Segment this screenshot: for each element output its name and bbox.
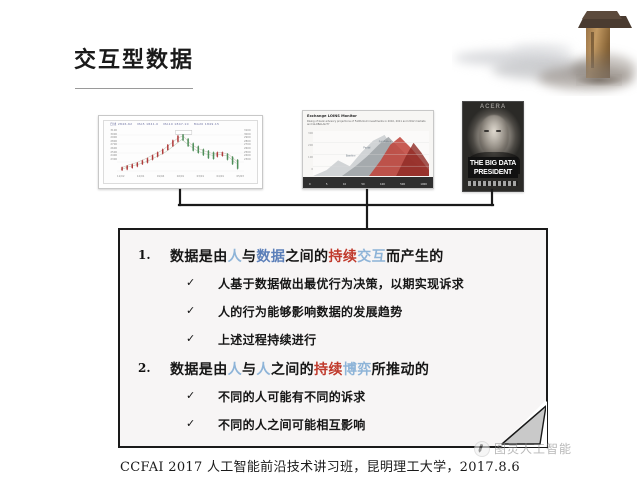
run-plain: 之间的: [271, 362, 314, 378]
watermark-text: 图灵人工智能: [494, 440, 572, 457]
content-box: 1. 数据是由人与数据之间的持续交互而产生的 ✓ 人基于数据做出最优行为决策，以…: [118, 228, 548, 448]
area-chart-y-tick: 300: [304, 132, 313, 135]
sub-item-text: 上述过程持续进行: [218, 331, 316, 348]
check-icon: ✓: [186, 389, 195, 402]
portrait-eye-right: [496, 130, 501, 132]
svg-text:Baseline: Baseline: [346, 154, 356, 157]
area-chart-footer-bar: 0 5 10 50 100 500 1000: [303, 177, 433, 188]
cover-headline: THE BIG DATA PRESIDENT: [468, 157, 518, 178]
stock-chart-header: 日线 2846.62 MA5 1841.0 MA10 1847.10 MA20 …: [110, 122, 251, 128]
item-number-1: 1.: [138, 248, 151, 262]
obama-portrait: [479, 115, 509, 155]
item-text-2: 数据是由人与人之间的持续博弈所推动的: [170, 359, 429, 379]
run-plain: 与: [242, 249, 256, 265]
area-chart-title: Exchange LOINS Monitor: [307, 114, 429, 118]
area-chart-y-tick: 100: [304, 156, 313, 159]
check-icon: ✓: [186, 417, 195, 430]
item-text-1: 数据是由人与数据之间的持续交互而产生的: [170, 246, 444, 266]
slide-canvas: 交互型数据 日线 2846.62 MA5 1841.0 MA10 1847.10…: [0, 0, 640, 480]
stock-chart-x-axis: 11/02 12/01 01/04 02/01 03/01 04/01 05/0…: [117, 175, 244, 182]
cover-headline-line2: PRESIDENT: [474, 168, 512, 177]
sub-item-text: 不同的人可能有不同的诉求: [218, 388, 366, 405]
sub-item-text: 人的行为能够影响数据的发展趋势: [218, 303, 403, 320]
area-chart-plot: Baseline Partial Full Pullout: [313, 131, 429, 176]
run-highlight: 持续: [328, 249, 357, 265]
check-icon: ✓: [186, 332, 195, 345]
cover-headline-line1: THE BIG DATA: [470, 159, 516, 168]
run-highlight: 交互: [357, 249, 386, 265]
ink-tower-painting-icon: [452, 4, 637, 96]
area-chart-y-tick: 200: [304, 144, 313, 147]
area-chart-subtitle: Rising of bank advisory projections of F…: [307, 120, 429, 127]
area-chart-x-axis: 0 5 10 50 100 500 1000: [309, 183, 427, 186]
svg-text:Full Pullout: Full Pullout: [379, 141, 392, 144]
run-plain: 而产生的: [386, 249, 444, 265]
cover-top-text: ACERA: [463, 104, 523, 110]
thumbnail-stock-chart: 日线 2846.62 MA5 1841.0 MA10 1847.10 MA20 …: [98, 115, 263, 189]
stock-chart-plot: [117, 129, 244, 174]
run-highlight: 博弈: [343, 362, 372, 378]
run-plain: 与: [242, 362, 256, 378]
run-highlight: 人: [256, 362, 270, 378]
cover-footer-strip: [468, 181, 518, 186]
run-plain: 所推动的: [372, 362, 430, 378]
thumbnail-area-chart: Exchange LOINS Monitor Rising of bank ad…: [302, 110, 434, 189]
run-plain: 数据是由: [170, 362, 228, 378]
watermark: 图灵人工智能: [474, 440, 572, 457]
area-chart-y-tick: 0: [304, 168, 313, 171]
run-plain: 数据是由: [170, 249, 228, 265]
sub-item-text: 不同的人之间可能相互影响: [218, 416, 366, 433]
check-icon: ✓: [186, 304, 195, 317]
pen-circle-icon: [474, 441, 490, 457]
title-underline: [75, 88, 193, 89]
thumbnail-big-data-president-cover: ACERA THE BIG DATA PRESIDENT: [462, 101, 524, 192]
stock-chart-y-axis-left: 3100 3000 2900 2800 2700 2600 2500 2400 …: [105, 129, 117, 174]
page-title: 交互型数据: [74, 42, 194, 74]
portrait-eye-left: [484, 130, 489, 132]
run-highlight: 人: [228, 362, 242, 378]
run-plain: 之间的: [285, 249, 328, 265]
item-number-2: 2.: [138, 361, 151, 375]
footer-text: CCFAI 2017 人工智能前沿技术讲习班，昆明理工大学，2017.8.6: [0, 456, 640, 475]
svg-text:Partial: Partial: [363, 147, 371, 150]
run-highlight: 人: [228, 249, 242, 265]
sub-item-text: 人基于数据做出最优行为决策，以期实现诉求: [218, 275, 464, 292]
check-icon: ✓: [186, 276, 195, 289]
run-highlight: 持续: [314, 362, 343, 378]
run-highlight: 数据: [256, 249, 285, 265]
stock-chart-y-axis-right: 3100 3000 2900 2800 2700 2600 2500 2400 …: [244, 129, 256, 174]
